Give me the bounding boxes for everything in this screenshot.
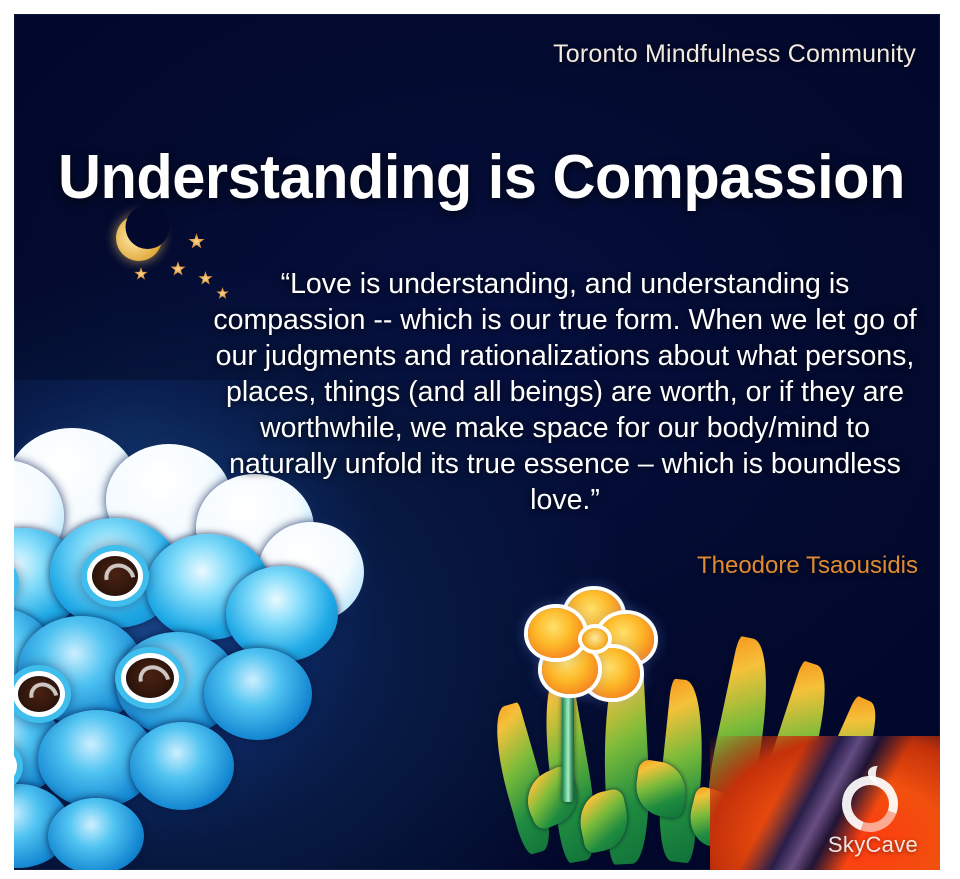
poster-canvas: Toronto Mindfulness Community Understand…: [14, 14, 940, 870]
quote-text: “Love is understanding, and understandin…: [212, 266, 918, 518]
cloud-puff: [226, 566, 338, 662]
cloud-spiral-icon: [126, 658, 174, 698]
cloud-puff: [130, 722, 234, 810]
star-icon: [198, 271, 213, 286]
enso-circle-icon: [833, 767, 907, 841]
poster-white-frame: Toronto Mindfulness Community Understand…: [0, 0, 960, 879]
star-icon: [170, 261, 186, 277]
crescent-moon-icon: [109, 208, 169, 268]
orange-flower-icon: [538, 590, 658, 700]
cloud-puff: [48, 798, 144, 870]
cloud-puff: [204, 648, 312, 740]
flower-center: [582, 628, 608, 650]
cloud-spiral-icon: [92, 556, 138, 596]
star-icon: [188, 233, 205, 250]
flower-petal: [528, 608, 584, 658]
page-title: Understanding is Compassion: [58, 142, 905, 213]
skycave-logo[interactable]: SkyCave: [820, 774, 926, 866]
cloud-spiral-icon: [18, 676, 60, 712]
quote-attribution: Theodore Tsaousidis: [697, 552, 918, 580]
star-icon: [134, 267, 148, 281]
logo-wordmark: SkyCave: [820, 832, 926, 858]
organization-name: Toronto Mindfulness Community: [553, 40, 916, 69]
